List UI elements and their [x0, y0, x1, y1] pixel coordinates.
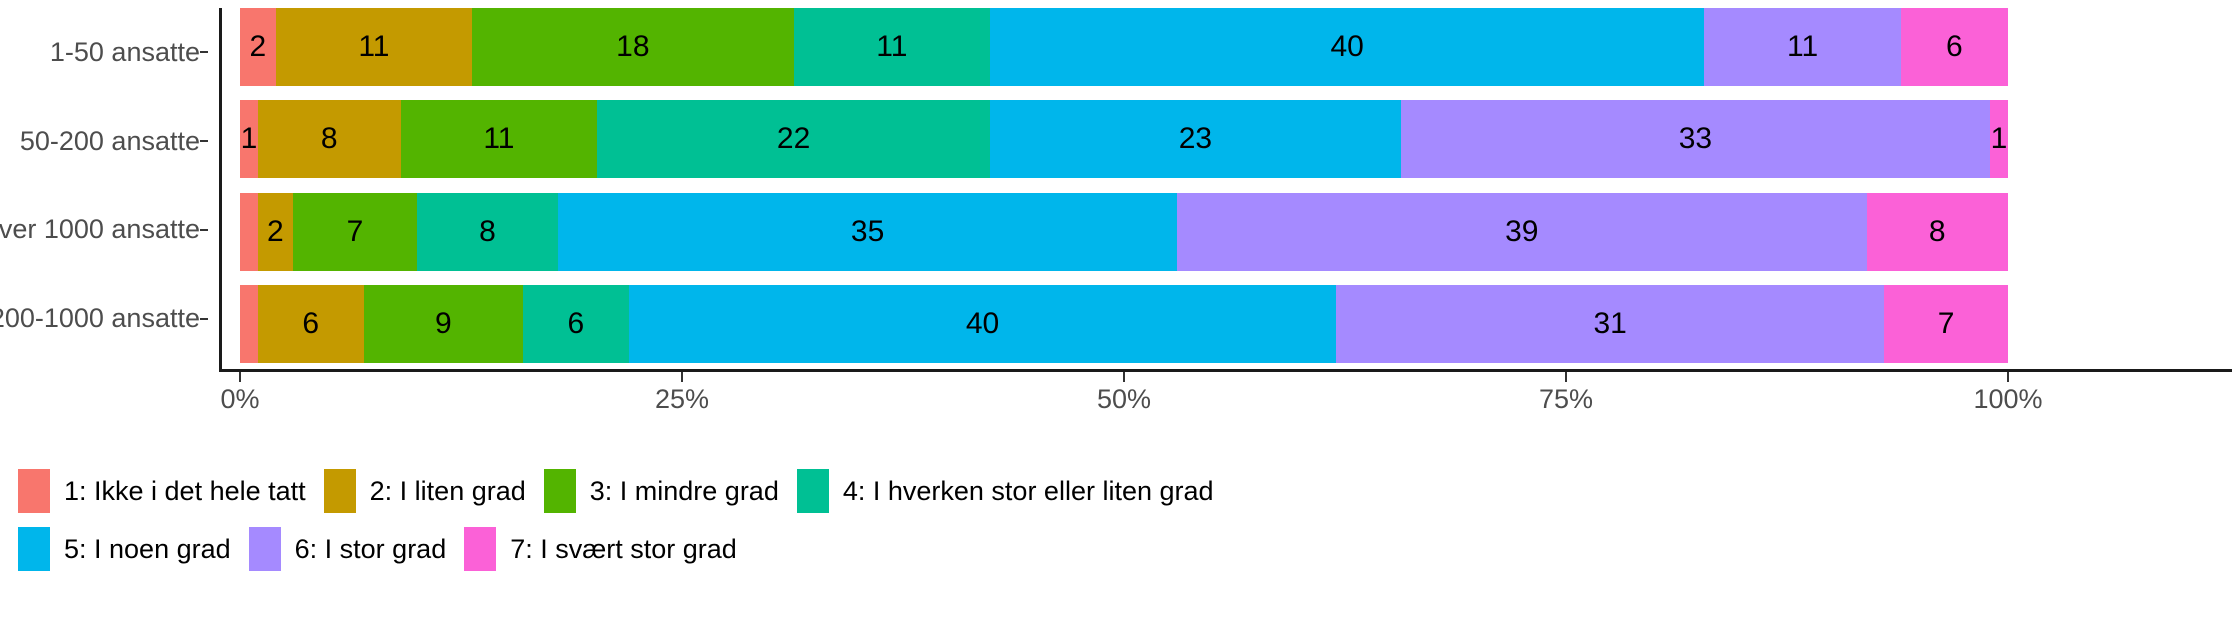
y-axis-tick-mark — [200, 140, 208, 142]
y-axis-tick-mark — [200, 51, 208, 53]
bar-segment-value: 11 — [483, 124, 514, 154]
x-axis-tick-mark — [239, 372, 241, 382]
bar-segment-value: 35 — [851, 217, 884, 247]
legend-row: 5: I noen grad6: I stor grad7: I svært s… — [18, 520, 2218, 578]
y-axis: 1-50 ansatte50-200 ansatteOver 1000 ansa… — [0, 8, 210, 363]
legend-row: 1: Ikke i det hele tatt2: I liten grad3:… — [18, 462, 2218, 520]
bar-segment[interactable]: 2 — [240, 8, 276, 86]
bar-segment-value: 1 — [1991, 124, 2008, 154]
bar-segment-value: 6 — [1946, 32, 1963, 62]
bar-segment-value: 39 — [1505, 217, 1538, 247]
x-axis-tick-label: 75% — [1539, 386, 1593, 413]
y-axis-tick-3: 200-1000 ansatte — [0, 274, 210, 363]
legend-swatch-icon — [797, 469, 829, 513]
bar-segment[interactable]: 40 — [990, 8, 1704, 86]
y-axis-tick-label: 50-200 ansatte — [20, 128, 200, 155]
bar-segment-value: 23 — [1179, 124, 1212, 154]
bar-segment[interactable]: 9 — [364, 285, 523, 363]
bar-segment[interactable]: 6 — [1901, 8, 2008, 86]
bar-segment-value: 22 — [777, 124, 810, 154]
x-axis: 0%25%50%75%100% — [240, 372, 2008, 382]
legend-item[interactable]: 2: I liten grad — [324, 469, 526, 513]
legend-item[interactable]: 4: I hverken stor eller liten grad — [797, 469, 1214, 513]
bar-segment[interactable] — [240, 285, 258, 363]
y-axis-tick-label: 200-1000 ansatte — [0, 305, 200, 332]
legend-item[interactable]: 1: Ikke i det hele tatt — [18, 469, 306, 513]
bar-segment-value: 40 — [1331, 32, 1364, 62]
bar-segment[interactable]: 8 — [1867, 193, 2008, 271]
bar-segment-value: 6 — [302, 309, 319, 339]
y-axis-tick-0: 1-50 ansatte — [0, 8, 210, 97]
legend-item[interactable]: 7: I svært stor grad — [464, 527, 737, 571]
bar-segment[interactable]: 33 — [1401, 100, 1990, 178]
bar-segment[interactable]: 7 — [1884, 285, 2008, 363]
legend-label: 2: I liten grad — [370, 478, 526, 505]
bar-segment[interactable]: 11 — [1704, 8, 1900, 86]
bar-segment-value: 8 — [321, 124, 338, 154]
bar-segment[interactable]: 40 — [629, 285, 1336, 363]
bar-segment[interactable]: 1 — [1990, 100, 2008, 178]
bar-segment[interactable]: 39 — [1177, 193, 1867, 271]
legend-label: 6: I stor grad — [295, 536, 447, 563]
bar-segment[interactable]: 31 — [1336, 285, 1884, 363]
x-axis-tick-label: 100% — [1973, 386, 2042, 413]
bar-segment[interactable]: 8 — [417, 193, 558, 271]
legend-swatch-icon — [18, 469, 50, 513]
bar-segment[interactable]: 6 — [258, 285, 364, 363]
bar-segment[interactable]: 1 — [240, 100, 258, 178]
legend-item[interactable]: 6: I stor grad — [249, 527, 447, 571]
legend-swatch-icon — [249, 527, 281, 571]
bar-segment-value: 8 — [1929, 217, 1946, 247]
bar-segment-value: 40 — [966, 309, 999, 339]
legend-swatch-icon — [18, 527, 50, 571]
x-axis-tick-mark — [1565, 372, 1567, 382]
y-axis-tick-mark — [200, 229, 208, 231]
legend: 1: Ikke i det hele tatt2: I liten grad3:… — [18, 462, 2218, 578]
y-axis-tick-label: 1-50 ansatte — [50, 39, 200, 66]
bar-segment[interactable]: 6 — [523, 285, 629, 363]
bar-rows: 211181140116181122233312783539869640317 — [240, 8, 2008, 363]
stacked-bar-chart: 1-50 ansatte50-200 ansatteOver 1000 ansa… — [0, 0, 2240, 630]
legend-swatch-icon — [464, 527, 496, 571]
bar-row: 18112223331 — [240, 100, 2008, 178]
bar-segment-value: 1 — [241, 124, 258, 154]
bar-segment[interactable]: 23 — [990, 100, 1401, 178]
bar-segment[interactable]: 11 — [401, 100, 597, 178]
legend-swatch-icon — [324, 469, 356, 513]
x-axis-tick-mark — [2007, 372, 2009, 382]
legend-swatch-icon — [544, 469, 576, 513]
bar-segment-value: 2 — [267, 217, 284, 247]
legend-label: 4: I hverken stor eller liten grad — [843, 478, 1214, 505]
legend-item[interactable]: 3: I mindre grad — [544, 469, 779, 513]
bar-segment-value: 2 — [250, 32, 267, 62]
x-axis-tick-label: 25% — [655, 386, 709, 413]
y-axis-tick-1: 50-200 ansatte — [0, 97, 210, 186]
bar-segment-value: 18 — [616, 32, 649, 62]
legend-label: 7: I svært stor grad — [510, 536, 737, 563]
bar-segment[interactable]: 8 — [258, 100, 401, 178]
bar-segment-value: 7 — [1938, 309, 1955, 339]
x-axis-tick-mark — [681, 372, 683, 382]
bar-segment[interactable]: 7 — [293, 193, 417, 271]
bar-segment-value: 11 — [358, 32, 389, 62]
bar-segment[interactable]: 18 — [472, 8, 793, 86]
bar-segment[interactable]: 2 — [258, 193, 293, 271]
bar-segment-value: 11 — [1787, 32, 1818, 62]
bar-row: 69640317 — [240, 285, 2008, 363]
bar-segment-value: 11 — [876, 32, 907, 62]
bar-segment-value: 6 — [568, 309, 585, 339]
legend-label: 5: I noen grad — [64, 536, 231, 563]
bar-segment-value: 31 — [1593, 309, 1626, 339]
legend-label: 1: Ikke i det hele tatt — [64, 478, 306, 505]
bar-row: 27835398 — [240, 193, 2008, 271]
bar-row: 211181140116 — [240, 8, 2008, 86]
x-axis-tick-label: 50% — [1097, 386, 1151, 413]
bar-segment-value: 8 — [479, 217, 496, 247]
bar-segment-value: 7 — [347, 217, 364, 247]
x-axis-tick-label: 0% — [220, 386, 259, 413]
legend-item[interactable]: 5: I noen grad — [18, 527, 231, 571]
y-axis-tick-label: Over 1000 ansatte — [0, 216, 200, 243]
bar-segment[interactable]: 11 — [276, 8, 472, 86]
bar-segment-value: 9 — [435, 309, 452, 339]
y-axis-tick-2: Over 1000 ansatte — [0, 186, 210, 275]
x-axis-tick-mark — [1123, 372, 1125, 382]
y-axis-tick-mark — [200, 318, 208, 320]
bar-segment[interactable]: 11 — [794, 8, 990, 86]
legend-label: 3: I mindre grad — [590, 478, 779, 505]
y-axis-line — [219, 8, 222, 371]
plot-area: 1-50 ansatte50-200 ansatteOver 1000 ansa… — [0, 0, 2240, 400]
bar-segment[interactable]: 35 — [558, 193, 1177, 271]
bar-segment[interactable]: 22 — [597, 100, 990, 178]
bar-segment-value: 33 — [1679, 124, 1712, 154]
bar-segment[interactable] — [240, 193, 258, 271]
